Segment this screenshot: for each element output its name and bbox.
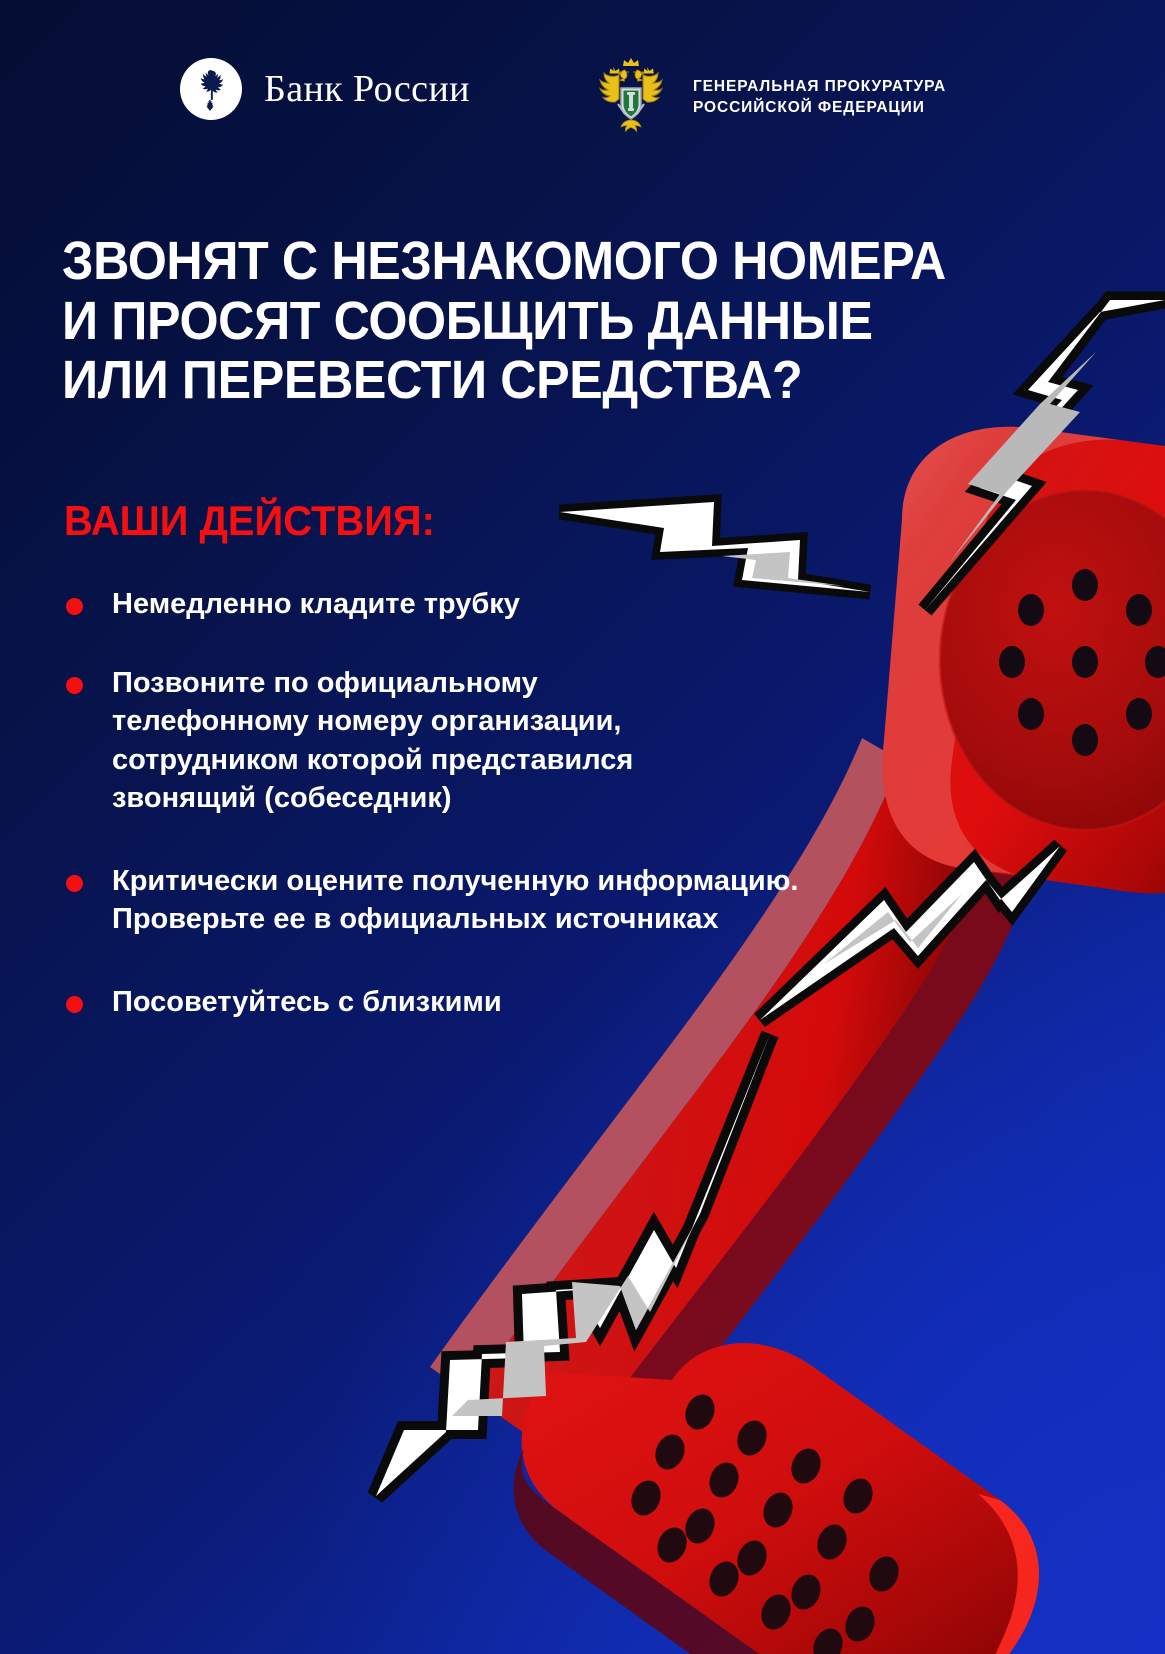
list-item-text: Критически оцените полученную информацию… <box>112 865 798 936</box>
bullet-dot-icon <box>66 875 83 892</box>
bank-of-russia-logo: Банк России <box>180 58 470 120</box>
list-item-text: Немедленно кладите трубку <box>112 588 520 620</box>
prosecutor-general-logo: ГЕНЕРАЛЬНАЯ ПРОКУРАТУРА РОССИЙСКОЙ ФЕДЕР… <box>585 52 946 144</box>
earpiece-holes <box>999 569 1165 756</box>
actions-heading: ВАШИ ДЕЙСТВИЯ: <box>64 497 435 545</box>
double-headed-eagle-circle-icon <box>180 58 242 120</box>
list-item: Посоветуйтесь с близкими <box>60 983 990 1022</box>
list-item: Критически оцените полученную информацию… <box>60 862 990 939</box>
list-item: Позвоните по официальному телефонному но… <box>60 664 990 818</box>
golden-double-headed-eagle-shield-icon <box>585 52 677 144</box>
list-item-text: Позвоните по официальному телефонному но… <box>112 667 633 815</box>
bullet-dot-icon <box>66 598 83 615</box>
page-title: ЗВОНЯТ С НЕЗНАКОМОГО НОМЕРА И ПРОСЯТ СОО… <box>62 232 1001 410</box>
bullet-dot-icon <box>66 996 83 1013</box>
lightning-bolt-bottom-left <box>376 1034 770 1496</box>
prosecutor-general-label: ГЕНЕРАЛЬНАЯ ПРОКУРАТУРА РОССИЙСКОЙ ФЕДЕР… <box>693 77 946 119</box>
bullet-dot-icon <box>66 677 83 694</box>
lightning-bolt-left <box>560 502 870 592</box>
poster-root: Банк России <box>0 0 1165 1654</box>
list-item: Немедленно кладите трубку <box>60 585 990 624</box>
actions-list: Немедленно кладите трубку Позвоните по о… <box>60 585 990 1056</box>
poster-header: Банк России <box>0 0 1165 175</box>
mouthpiece-holes <box>626 1390 903 1654</box>
telephone-handset-mouthpiece <box>514 1343 1039 1654</box>
list-item-text: Посоветуйтесь с близкими <box>112 986 502 1018</box>
bank-of-russia-label: Банк России <box>264 70 470 108</box>
